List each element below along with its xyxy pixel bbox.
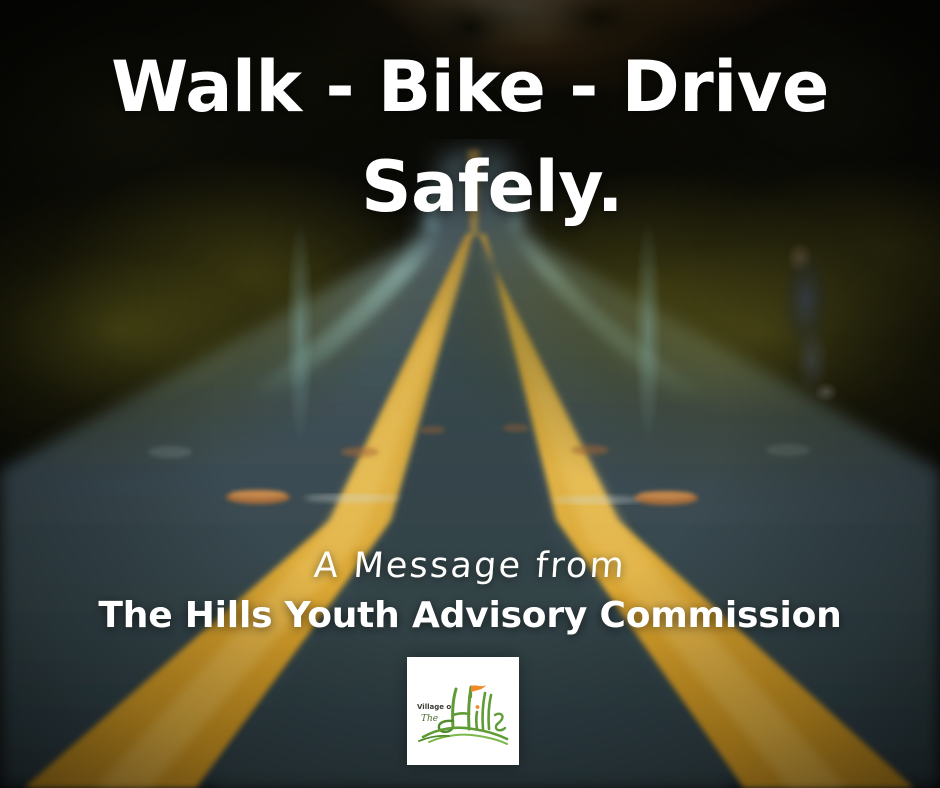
headline-line-1: Walk - Bike - Drive [0,52,940,122]
organization-name: The Hills Youth Advisory Commission [0,595,940,636]
headline-line-2: Safely. [0,152,940,222]
road-reflectors [148,424,810,505]
message-from-label: A Message from [0,546,940,586]
village-of-the-hills-logo-card: Village of The [407,657,519,765]
lane-scuffs [304,494,640,504]
logo-village-of-text: Village of [417,703,455,711]
poster-canvas: Walk - Bike - Drive Safely. A Message fr… [0,0,940,788]
logo-hill-strokes [419,728,507,744]
logo-the-text: The [421,714,438,724]
village-of-the-hills-logo: Village of The [413,671,513,751]
